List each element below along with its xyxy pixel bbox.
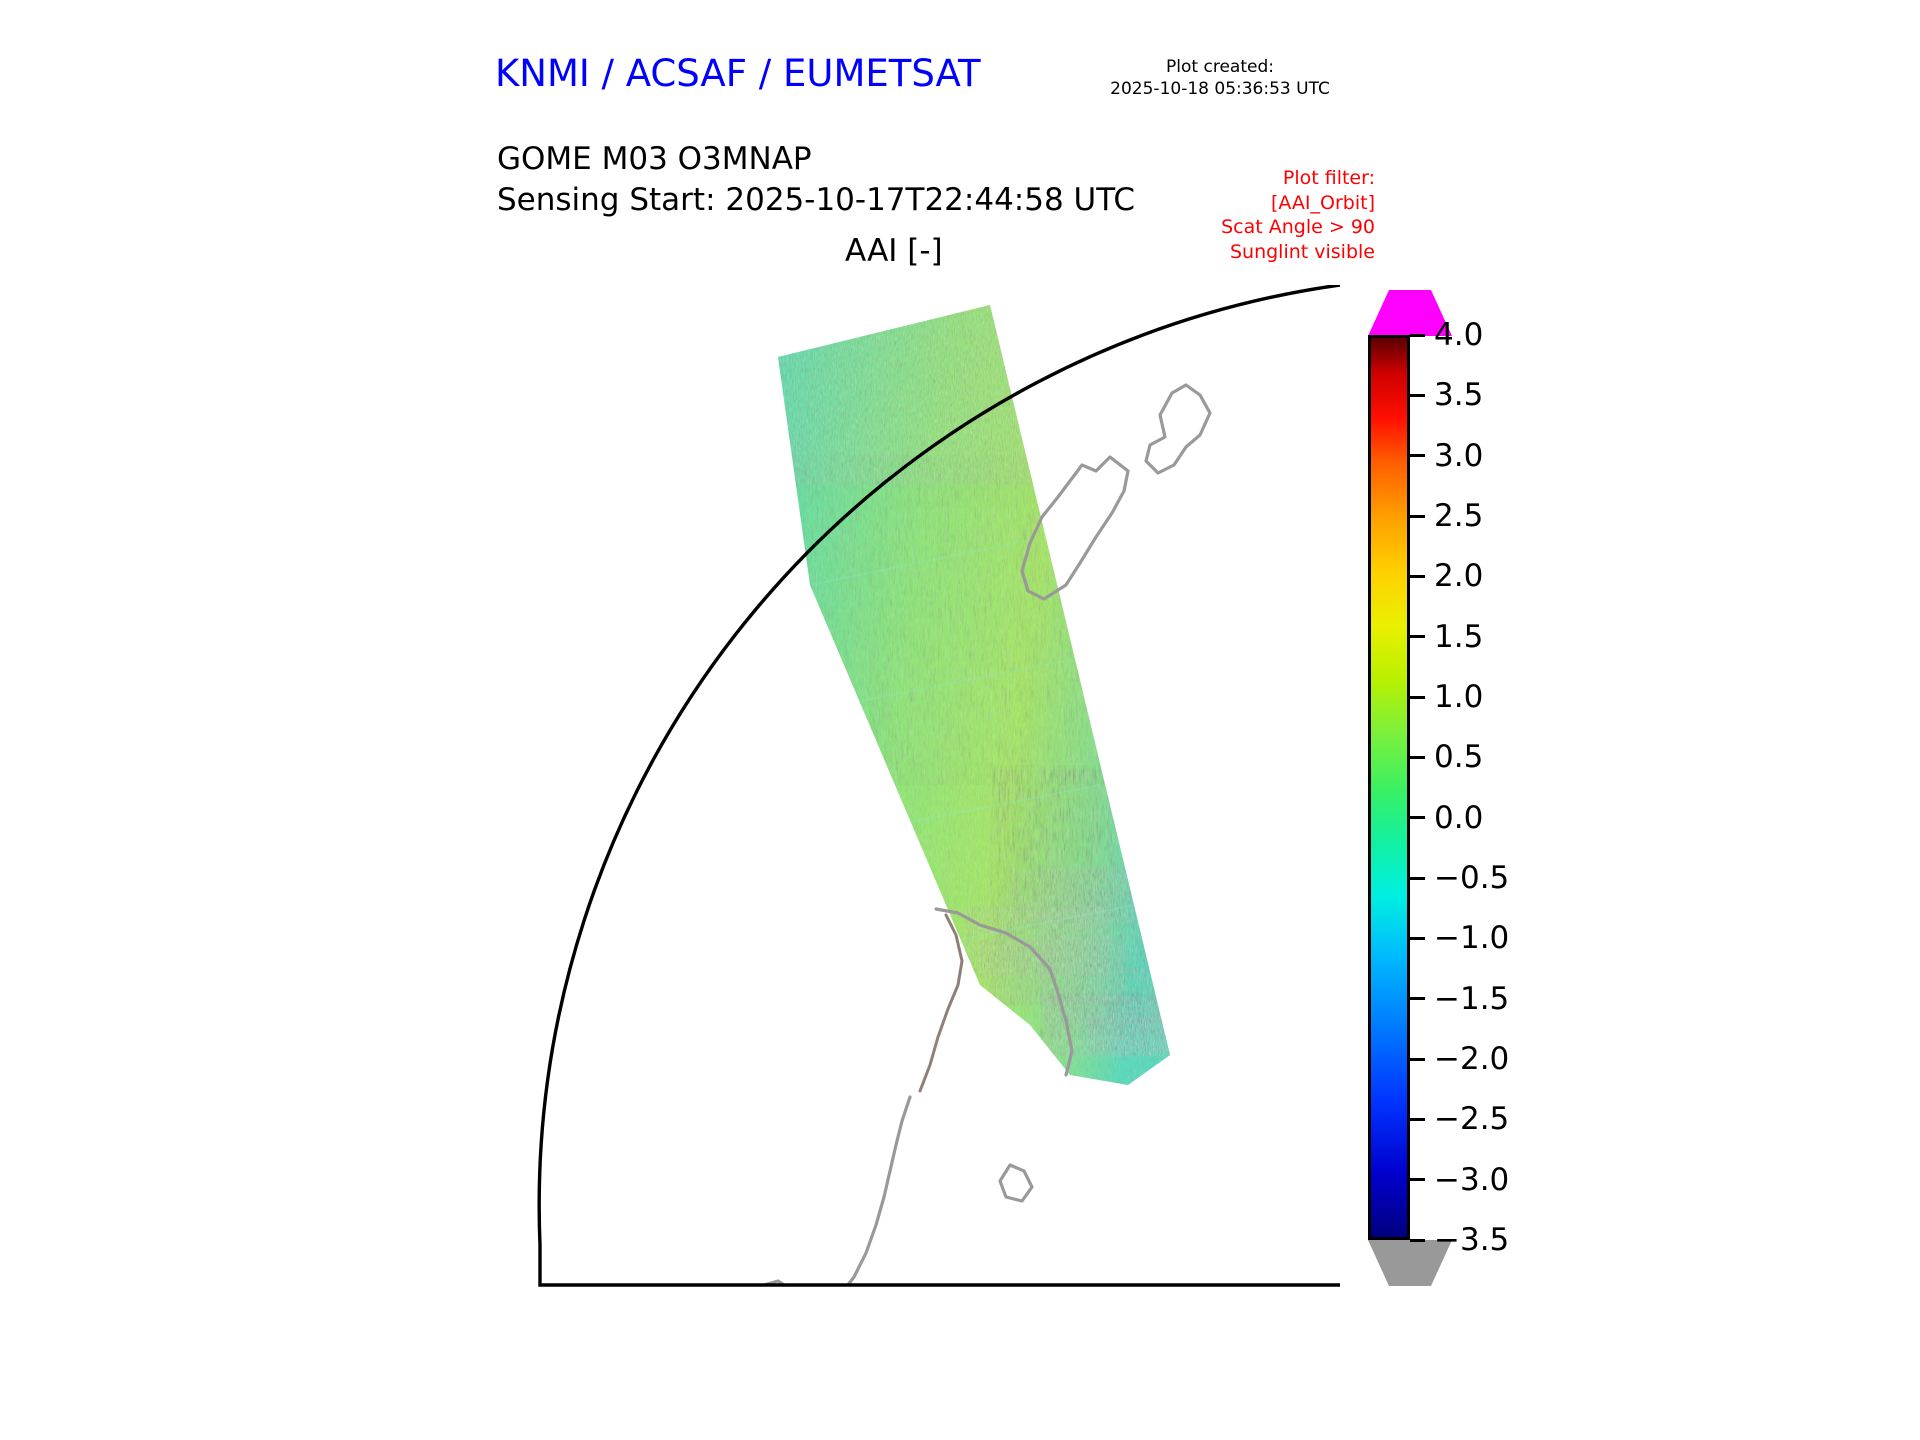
colorbar-tick-label: 1.5	[1434, 619, 1483, 655]
organisation-title: KNMI / ACSAF / EUMETSAT	[495, 52, 981, 95]
plot-created-label: Plot created:	[1075, 56, 1365, 78]
colorbar: 4.03.53.02.52.01.51.00.50.0−0.5−1.0−1.5−…	[1368, 290, 1598, 1300]
sensing-start-title: Sensing Start: 2025-10-17T22:44:58 UTC	[497, 180, 1135, 221]
colorbar-tick-label: 0.5	[1434, 739, 1483, 775]
colorbar-tick-label: −2.0	[1434, 1041, 1509, 1077]
map-plot-area	[510, 285, 1340, 1305]
plot-created-time: 2025-10-18 05:36:53 UTC	[1075, 78, 1365, 100]
colorbar-tick-label: −3.5	[1434, 1222, 1509, 1258]
plot-filter-label: Plot filter:	[1135, 166, 1375, 191]
page-title: GOME M03 O3MNAP Sensing Start: 2025-10-1…	[497, 139, 1135, 221]
colorbar-tick-label: −0.5	[1434, 860, 1509, 896]
plot-filter-line-3: Sunglint visible	[1135, 240, 1375, 265]
colorbar-tick-mark	[1410, 997, 1425, 1000]
colorbar-tick-label: 1.0	[1434, 679, 1483, 715]
colorbar-tick-mark	[1410, 1058, 1425, 1061]
colorbar-tick-label: 4.0	[1434, 317, 1483, 353]
colorbar-tick-mark	[1410, 816, 1425, 819]
colorbar-tick-mark	[1410, 696, 1425, 699]
colorbar-tick-label: 2.0	[1434, 558, 1483, 594]
colorbar-tick-mark	[1410, 515, 1425, 518]
colorbar-gradient	[1368, 335, 1410, 1240]
colorbar-tick-mark	[1410, 394, 1425, 397]
colorbar-tick-label: −3.0	[1434, 1162, 1509, 1198]
colorbar-tick-mark	[1410, 1178, 1425, 1181]
colorbar-tick-mark	[1410, 1118, 1425, 1121]
colorbar-tick-mark	[1410, 334, 1425, 337]
instrument-title: GOME M03 O3MNAP	[497, 139, 1135, 180]
map-canvas	[510, 285, 1340, 1305]
variable-title: AAI [-]	[845, 233, 943, 269]
colorbar-tick-label: 2.5	[1434, 498, 1483, 534]
colorbar-tick-label: 0.0	[1434, 800, 1483, 836]
colorbar-tick-label: −2.5	[1434, 1101, 1509, 1137]
plot-filter-line-1: [AAI_Orbit]	[1135, 191, 1375, 216]
plot-created-block: Plot created: 2025-10-18 05:36:53 UTC	[1075, 56, 1365, 101]
colorbar-tick-label: −1.5	[1434, 981, 1509, 1017]
colorbar-tick-label: −1.0	[1434, 920, 1509, 956]
colorbar-tick-label: 3.0	[1434, 438, 1483, 474]
colorbar-tick-mark	[1410, 877, 1425, 880]
colorbar-tick-mark	[1410, 635, 1425, 638]
colorbar-tick-mark	[1410, 1239, 1425, 1242]
colorbar-tick-mark	[1410, 937, 1425, 940]
colorbar-tick-mark	[1410, 756, 1425, 759]
colorbar-tick-mark	[1410, 454, 1425, 457]
plot-filter-line-2: Scat Angle > 90	[1135, 215, 1375, 240]
colorbar-tick-label: 3.5	[1434, 377, 1483, 413]
colorbar-tick-mark	[1410, 575, 1425, 578]
plot-filter-block: Plot filter: [AAI_Orbit] Scat Angle > 90…	[1135, 166, 1375, 265]
